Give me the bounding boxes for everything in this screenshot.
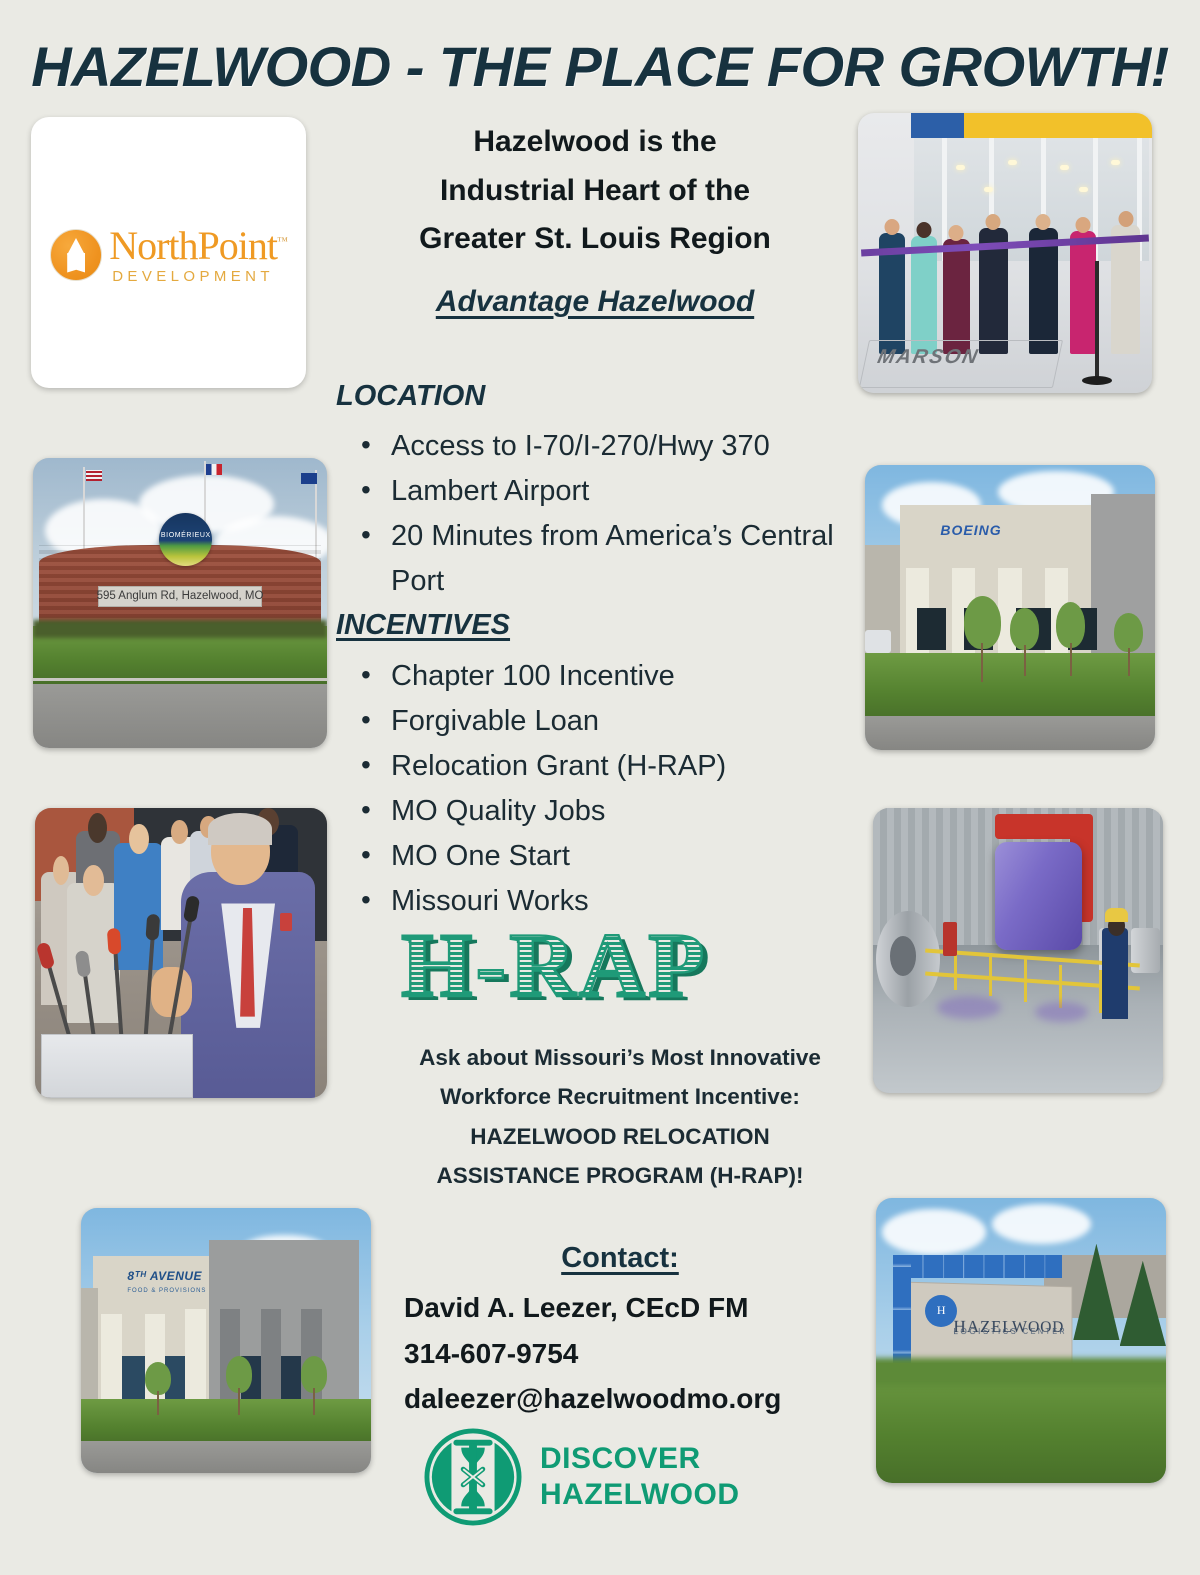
discover-hazelwood-emblem-icon xyxy=(424,1428,522,1526)
northpoint-subtitle: DEVELOPMENT xyxy=(109,269,287,284)
hrap-blurb-line-2: Workforce Recruitment Incentive: xyxy=(370,1077,870,1116)
photo-ribbon-cutting: MARSON xyxy=(858,113,1152,393)
contact-name: David A. Leezer, CEcD FM xyxy=(404,1285,874,1331)
trademark-icon: ™ xyxy=(277,235,287,247)
incentives-list: Chapter 100 Incentive Forgivable Loan Re… xyxy=(355,654,870,925)
tagline: Hazelwood is the Industrial Heart of the… xyxy=(330,118,860,264)
svg-text:H-RAP: H-RAP xyxy=(401,920,707,1015)
contact-phone[interactable]: 314-607-9754 xyxy=(404,1331,874,1377)
list-item: MO One Start xyxy=(355,834,870,879)
photo-boeing-building: BOEING xyxy=(865,465,1155,750)
list-item: Lambert Airport xyxy=(355,469,870,514)
contact-details: David A. Leezer, CEcD FM 314-607-9754 da… xyxy=(404,1285,874,1422)
hrap-blurb-line-1: Ask about Missouri’s Most Innovative xyxy=(370,1038,870,1077)
boeing-logo: BOEING xyxy=(940,522,1001,538)
list-item: Chapter 100 Incentive xyxy=(355,654,870,699)
discover-hazelwood-logo: DISCOVER HAZELWOOD xyxy=(424,1428,740,1526)
contact-email[interactable]: daleezer@hazelwoodmo.org xyxy=(404,1376,874,1422)
northpoint-monument-icon xyxy=(50,229,102,281)
flyer-page: HAZELWOOD - THE PLACE FOR GROWTH! NorthP… xyxy=(0,0,1200,1575)
eighth-avenue-logo: 8ᵀᴴ AVENUE xyxy=(127,1269,202,1283)
logistics-sign-subtitle: LOGISTICS CENTER xyxy=(954,1326,1068,1335)
hrap-wordmark: H-RAP H-RAP xyxy=(395,920,835,1015)
hrap-blurb-line-4: ASSISTANCE PROGRAM (H-RAP)! xyxy=(370,1156,870,1195)
tagline-line-1: Hazelwood is the xyxy=(330,118,860,167)
discover-line-2: HAZELWOOD xyxy=(540,1477,740,1513)
photo-press-conference xyxy=(35,808,327,1098)
advantage-hazelwood-heading: Advantage Hazelwood xyxy=(330,285,860,319)
northpoint-logo-text: NorthPoint™ DEVELOPMENT xyxy=(109,226,287,284)
contact-heading: Contact: xyxy=(380,1242,860,1275)
list-item: Relocation Grant (H-RAP) xyxy=(355,744,870,789)
discover-hazelwood-text: DISCOVER HAZELWOOD xyxy=(540,1441,740,1513)
hrap-blurb: Ask about Missouri’s Most Innovative Wor… xyxy=(370,1038,870,1196)
northpoint-logo: NorthPoint™ DEVELOPMENT xyxy=(50,226,287,284)
photo-steel-mill xyxy=(873,808,1163,1093)
biomerieux-address-plate: 595 Anglum Rd, Hazelwood, MO xyxy=(98,586,263,608)
tagline-line-3: Greater St. Louis Region xyxy=(330,215,860,264)
list-item: Forgivable Loan xyxy=(355,699,870,744)
location-list: Access to I-70/I-270/Hwy 370 Lambert Air… xyxy=(355,424,870,604)
photo-hazelwood-logistics-sign: HAZELWOOD LOGISTICS CENTER xyxy=(876,1198,1166,1483)
northpoint-logo-card: NorthPoint™ DEVELOPMENT xyxy=(31,117,306,388)
northpoint-name: NorthPoint™ xyxy=(109,226,287,266)
discover-line-1: DISCOVER xyxy=(540,1441,740,1477)
list-item: Missouri Works xyxy=(355,879,870,924)
list-item: 20 Minutes from America’s Central Port xyxy=(355,514,870,604)
photo-biomerieux-sign: BIOMÉRIEUX 595 Anglum Rd, Hazelwood, MO xyxy=(33,458,327,748)
hrap-blurb-line-3: HAZELWOOD RELOCATION xyxy=(370,1117,870,1156)
list-item: MO Quality Jobs xyxy=(355,789,870,834)
eighth-avenue-logo-sub: FOOD & PROVISIONS xyxy=(127,1288,206,1294)
section-heading-location: LOCATION xyxy=(336,380,485,413)
photo-eighth-avenue-building: 8ᵀᴴ AVENUE FOOD & PROVISIONS xyxy=(81,1208,371,1473)
section-heading-incentives: INCENTIVES xyxy=(336,609,510,642)
logistics-h-badge-icon xyxy=(925,1295,957,1327)
tagline-line-2: Industrial Heart of the xyxy=(330,167,860,216)
marson-floor-logo: MARSON xyxy=(859,340,1063,388)
list-item: Access to I-70/I-270/Hwy 370 xyxy=(355,424,870,469)
biomerieux-logo-badge: BIOMÉRIEUX xyxy=(159,513,212,566)
page-title: HAZELWOOD - THE PLACE FOR GROWTH! xyxy=(0,34,1200,99)
